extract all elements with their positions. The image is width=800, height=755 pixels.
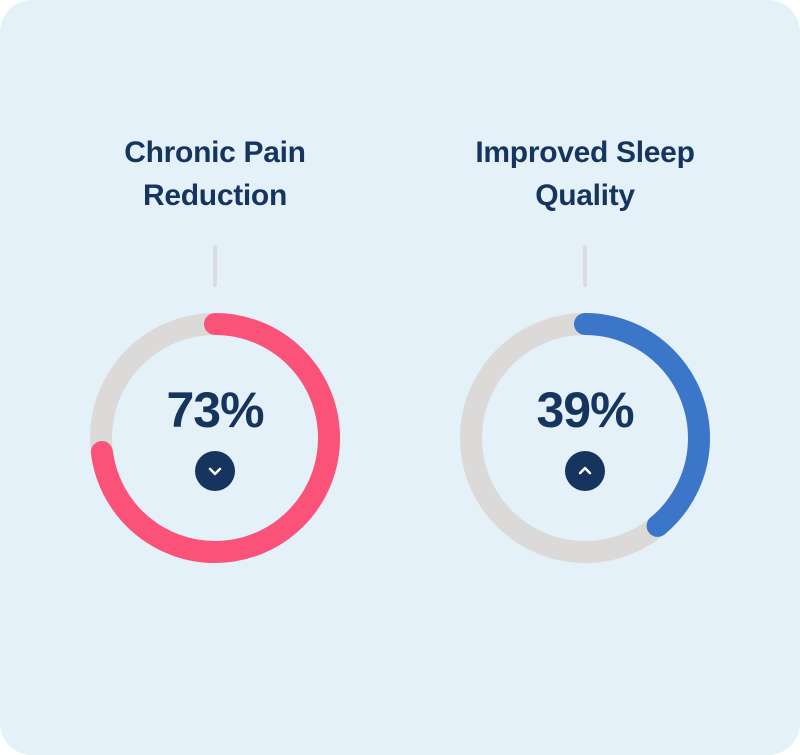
gauge-value-label: 73% [166, 385, 263, 435]
metric-title: Improved Sleep Quality [445, 132, 725, 217]
chevron-up-icon [575, 461, 595, 481]
donut-gauge-chronic-pain[interactable]: 73% [90, 313, 340, 563]
screenshot-stage: Chronic Pain Reduction 73% [0, 0, 800, 755]
trend-badge-up[interactable] [565, 451, 605, 491]
donut-gauge-improved-sleep[interactable]: 39% [460, 313, 710, 563]
trend-badge-down[interactable] [195, 451, 235, 491]
gauge-center-content: 73% [90, 313, 340, 563]
chevron-down-icon [205, 461, 225, 481]
metric-title: Chronic Pain Reduction [75, 132, 355, 217]
metric-improved-sleep-quality: Improved Sleep Quality 39% [430, 132, 740, 563]
gauge-center-content: 39% [460, 313, 710, 563]
metrics-row: Chronic Pain Reduction 73% [0, 0, 800, 755]
metrics-card: Chronic Pain Reduction 73% [0, 0, 800, 755]
title-gauge-connector [583, 245, 587, 287]
metric-chronic-pain-reduction: Chronic Pain Reduction 73% [60, 132, 370, 563]
title-gauge-connector [213, 245, 217, 287]
gauge-value-label: 39% [536, 385, 633, 435]
